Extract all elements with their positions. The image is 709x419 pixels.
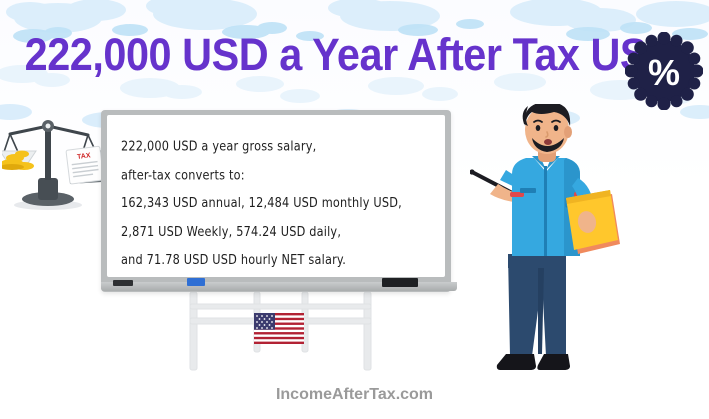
footer-brand: IncomeAfterTax.com: [0, 386, 709, 404]
title-bar: 222,000 USD a Year After Tax US: [0, 24, 709, 86]
whiteboard-text: 222,000 USD a year gross salary, after-t…: [121, 133, 437, 276]
whiteboard-frame: 222,000 USD a year gross salary, after-t…: [101, 110, 451, 292]
board-line-3: 162,343 USD annual, 12,484 USD monthly U…: [121, 190, 437, 219]
board-line-2: after-tax converts to:: [121, 162, 437, 191]
black-marker-icon: [113, 280, 133, 286]
board-line-4: 2,871 USD Weekly, 574.24 USD daily,: [121, 219, 437, 248]
board-line-1: 222,000 USD a year gross salary,: [121, 133, 437, 162]
balance-scale-icon: TAX: [2, 104, 112, 216]
whiteboard-surface: 222,000 USD a year gross salary, after-t…: [107, 115, 445, 277]
presenter-character: [470, 104, 670, 382]
shoes: [497, 354, 570, 370]
percent-badge-icon: %: [625, 32, 703, 110]
percent-symbol: %: [648, 52, 680, 93]
infographic-canvas: TAX: [0, 0, 709, 419]
board-line-5: and 71.78 USD USD hourly NET salary.: [121, 247, 437, 276]
page-title: 222,000 USD a Year After Tax US: [25, 29, 684, 81]
whiteboard: 222,000 USD a year gross salary, after-t…: [101, 110, 451, 300]
blue-marker-icon: [187, 278, 205, 286]
us-flag: [254, 313, 304, 344]
eraser-icon: [382, 278, 418, 287]
